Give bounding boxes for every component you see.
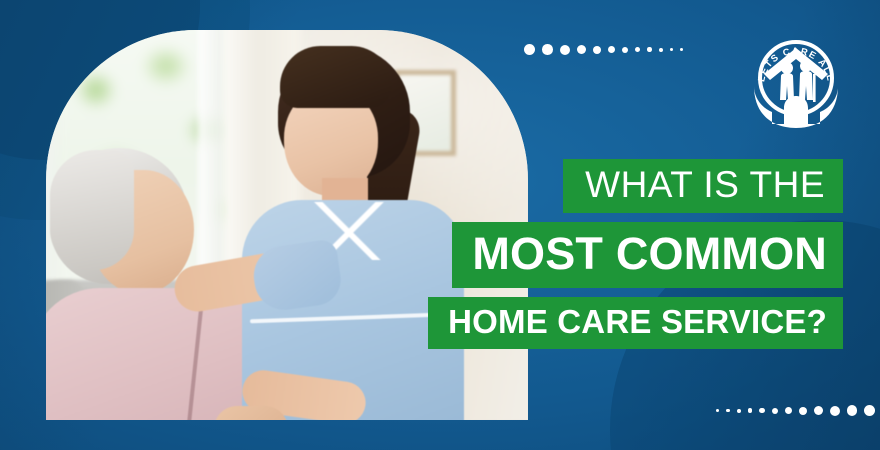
dot-row-bottom xyxy=(716,405,875,416)
dot xyxy=(659,48,663,52)
caregiver-hair-front xyxy=(280,46,392,108)
dot xyxy=(726,409,730,413)
senior-hair-front xyxy=(50,150,134,270)
dot xyxy=(680,48,683,51)
logo-arc-text: LETS CARE ALL xyxy=(756,46,836,83)
dot xyxy=(647,47,652,52)
headline-line-3: HOME CARE SERVICE? xyxy=(428,297,843,349)
headline: WHAT IS THE MOST COMMON HOME CARE SERVIC… xyxy=(428,159,843,349)
home-care-banner: WHAT IS THE MOST COMMON HOME CARE SERVIC… xyxy=(0,0,880,450)
dot xyxy=(577,45,586,54)
dot xyxy=(814,406,823,415)
headline-line-2: MOST COMMON xyxy=(452,222,843,288)
dot xyxy=(670,48,674,52)
dot xyxy=(830,406,840,416)
dot xyxy=(608,46,615,53)
dot xyxy=(593,46,601,54)
dot xyxy=(560,45,570,55)
dot xyxy=(785,407,792,414)
headline-line-1: WHAT IS THE xyxy=(563,159,843,213)
dot xyxy=(622,47,628,53)
dot xyxy=(748,408,753,413)
dot xyxy=(716,409,719,412)
dot xyxy=(542,44,553,55)
dot xyxy=(759,408,765,414)
dot xyxy=(635,47,641,53)
dot-row-top xyxy=(524,44,683,55)
dot xyxy=(772,408,778,414)
dot xyxy=(847,405,858,416)
lets-care-all-logo: LETS CARE ALL xyxy=(744,28,848,132)
svg-text:LETS CARE ALL: LETS CARE ALL xyxy=(756,46,836,83)
dot xyxy=(864,405,875,416)
dot xyxy=(799,407,807,415)
dot xyxy=(737,409,741,413)
